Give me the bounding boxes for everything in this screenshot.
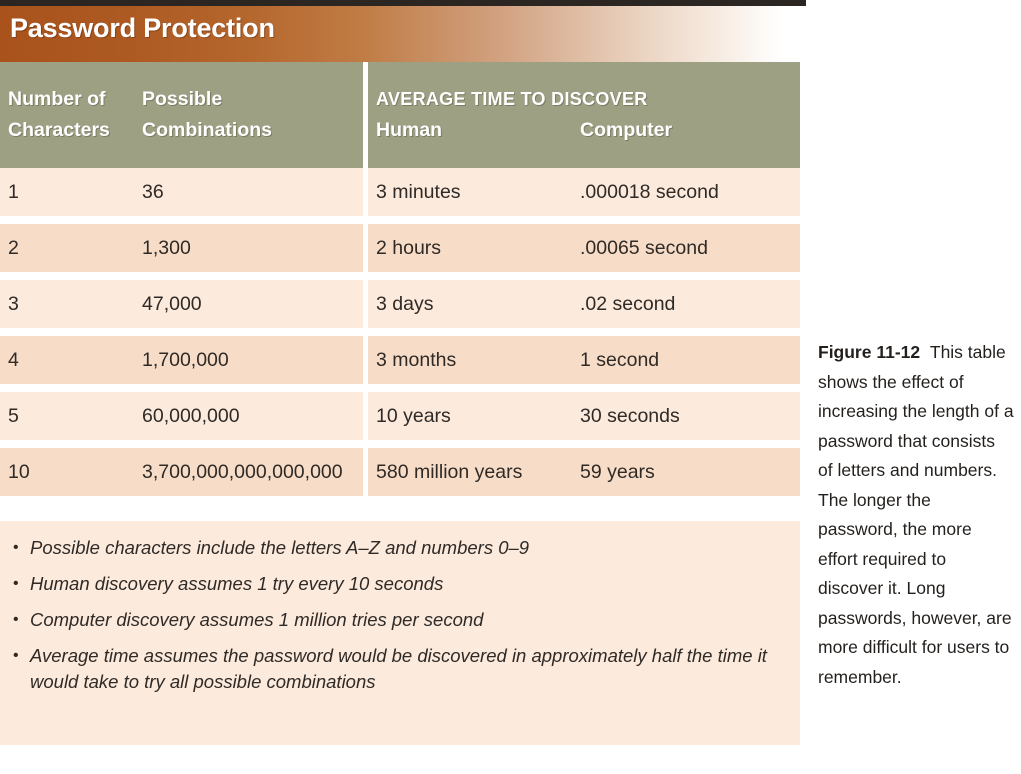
row-segment-left: 5 60,000,000	[0, 392, 363, 440]
footnote-list: • Possible characters include the letter…	[0, 521, 800, 695]
table-row: 2 1,300 2 hours .00065 second	[0, 224, 806, 278]
table-row: 5 60,000,000 10 years 30 seconds	[0, 392, 806, 446]
cell-human-time: 3 minutes	[376, 168, 461, 216]
cell-computer-time: 30 seconds	[580, 392, 680, 440]
row-segment-left: 1 36	[0, 168, 363, 216]
table-row: 1 36 3 minutes .000018 second	[0, 168, 806, 222]
bullet-icon: •	[13, 535, 19, 561]
cell-human-time: 10 years	[376, 392, 451, 440]
column-header-average-time-to-discover: AVERAGE TIME TO DISCOVER	[376, 84, 648, 115]
row-segment-right: 10 years 30 seconds	[368, 392, 800, 440]
cell-combinations: 1,700,000	[142, 336, 229, 384]
cell-computer-time: .00065 second	[580, 224, 708, 272]
cell-characters: 3	[8, 280, 19, 328]
figure-footnotes: • Possible characters include the letter…	[0, 521, 800, 745]
cell-combinations: 1,300	[142, 224, 191, 272]
figure-caption-label: Figure 11-12	[818, 342, 920, 362]
footnote-item: • Human discovery assumes 1 try every 10…	[0, 571, 800, 597]
cell-characters: 5	[8, 392, 19, 440]
row-segment-right: 3 months 1 second	[368, 336, 800, 384]
column-header-computer: Computer	[580, 115, 672, 146]
footnote-text: Average time assumes the password would …	[30, 645, 767, 692]
table-row: 10 3,700,000,000,000,000 580 million yea…	[0, 448, 806, 502]
figure-title: Password Protection	[10, 13, 275, 44]
cell-human-time: 2 hours	[376, 224, 441, 272]
row-segment-left: 2 1,300	[0, 224, 363, 272]
footnote-item: • Possible characters include the letter…	[0, 535, 800, 561]
row-segment-right: 2 hours .00065 second	[368, 224, 800, 272]
footnote-item: • Average time assumes the password woul…	[0, 643, 800, 695]
column-header-number-of-characters: Number of Characters	[8, 84, 110, 146]
bullet-icon: •	[13, 571, 19, 597]
footnote-item: • Computer discovery assumes 1 million t…	[0, 607, 800, 633]
footnote-text: Human discovery assumes 1 try every 10 s…	[30, 573, 443, 594]
cell-computer-time: 1 second	[580, 336, 659, 384]
password-protection-figure: Password Protection Number of Characters…	[0, 0, 806, 752]
cell-human-time: 580 million years	[376, 448, 522, 496]
cell-computer-time: 59 years	[580, 448, 655, 496]
cell-characters: 10	[8, 448, 30, 496]
cell-characters: 1	[8, 168, 19, 216]
column-header-human: Human	[376, 115, 442, 146]
cell-combinations: 36	[142, 168, 164, 216]
table-header-row: Number of Characters Possible Combinatio…	[0, 62, 800, 168]
cell-combinations: 3,700,000,000,000,000	[142, 448, 343, 496]
cell-characters: 4	[8, 336, 19, 384]
cell-characters: 2	[8, 224, 19, 272]
figure-page: Password Protection Number of Characters…	[0, 0, 1021, 774]
table-row: 3 47,000 3 days .02 second	[0, 280, 806, 334]
column-header-possible-combinations: Possible Combinations	[142, 84, 272, 146]
row-segment-left: 4 1,700,000	[0, 336, 363, 384]
figure-title-band: Password Protection	[0, 6, 806, 62]
row-segment-left: 10 3,700,000,000,000,000	[0, 448, 363, 496]
header-group-left: Number of Characters Possible Combinatio…	[0, 62, 363, 168]
row-segment-left: 3 47,000	[0, 280, 363, 328]
bullet-icon: •	[13, 607, 19, 633]
header-group-average-time: AVERAGE TIME TO DISCOVER Human Computer	[368, 62, 800, 168]
row-segment-right: 3 days .02 second	[368, 280, 800, 328]
cell-human-time: 3 months	[376, 336, 456, 384]
figure-caption: Figure 11-12This table shows the effect …	[818, 338, 1014, 692]
table-body: 1 36 3 minutes .000018 second 2 1,300 2 …	[0, 168, 806, 521]
row-segment-right: 3 minutes .000018 second	[368, 168, 800, 216]
cell-human-time: 3 days	[376, 280, 433, 328]
cell-computer-time: .000018 second	[580, 168, 719, 216]
footnote-text: Possible characters include the letters …	[30, 537, 529, 558]
cell-computer-time: .02 second	[580, 280, 675, 328]
cell-combinations: 60,000,000	[142, 392, 240, 440]
row-segment-right: 580 million years 59 years	[368, 448, 800, 496]
cell-combinations: 47,000	[142, 280, 202, 328]
table-row: 4 1,700,000 3 months 1 second	[0, 336, 806, 390]
bullet-icon: •	[13, 643, 19, 669]
figure-caption-body: This table shows the effect of increasin…	[818, 342, 1014, 687]
footnote-text: Computer discovery assumes 1 million tri…	[30, 609, 483, 630]
